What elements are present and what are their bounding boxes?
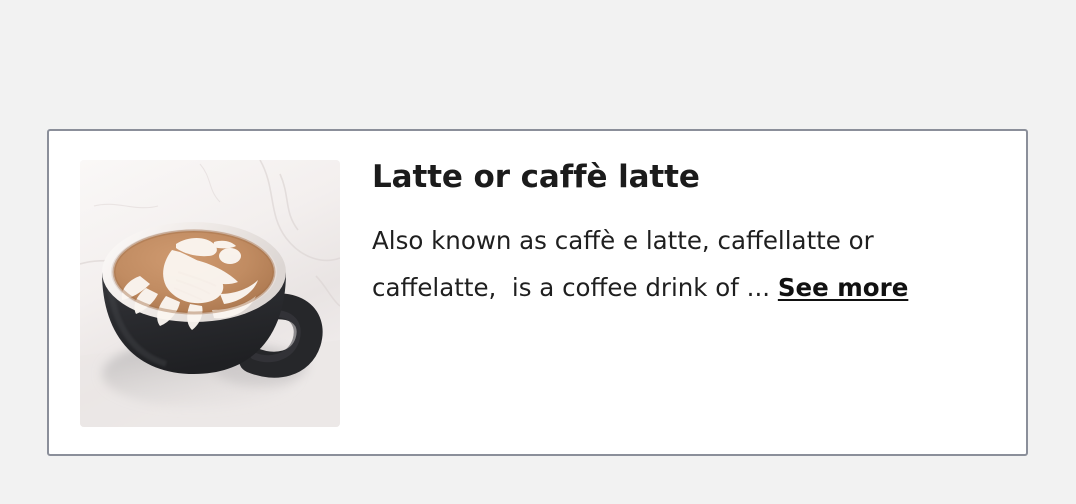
see-more-link[interactable]: See more — [778, 273, 908, 302]
latte-illustration — [80, 160, 340, 427]
latte-image — [80, 160, 340, 427]
card-description: Also known as caffè e latte, caffellatte… — [372, 196, 984, 311]
article-card[interactable]: Latte or caffè latte Also known as caffè… — [47, 129, 1028, 456]
page-root: Latte or caffè latte Also known as caffè… — [0, 0, 1076, 504]
card-title: Latte or caffè latte — [372, 160, 1004, 196]
card-content: Latte or caffè latte Also known as caffè… — [372, 160, 1004, 311]
